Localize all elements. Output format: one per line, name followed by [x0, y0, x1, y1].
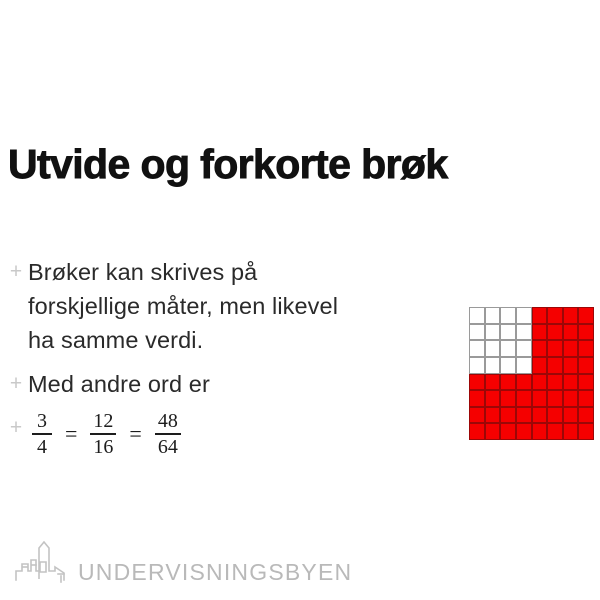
- grid-cell-filled: [500, 423, 516, 440]
- slide-canvas: Utvide og forkorte brøk + Brøker kan skr…: [0, 0, 600, 600]
- grid-cell-filled: [532, 407, 548, 424]
- grid-cell-filled: [532, 357, 548, 374]
- fraction-denominator: 4: [34, 435, 50, 457]
- grid-cell-filled: [532, 374, 548, 391]
- page-title: Utvide og forkorte brøk: [8, 140, 568, 188]
- grid-cell-filled: [547, 307, 563, 324]
- grid-cell-filled: [516, 390, 532, 407]
- grid-cell-filled: [516, 374, 532, 391]
- plus-bullet-icon: +: [4, 367, 28, 401]
- grid-cell-filled: [578, 407, 594, 424]
- grid-cell-empty: [500, 324, 516, 341]
- grid-cell-filled: [547, 423, 563, 440]
- grid-cell-filled: [578, 307, 594, 324]
- grid-cell-filled: [563, 340, 579, 357]
- grid-cell-empty: [516, 357, 532, 374]
- grid-cell-empty: [469, 324, 485, 341]
- grid-cell-filled: [532, 390, 548, 407]
- plus-bullet-icon: +: [4, 411, 28, 445]
- grid-cell-filled: [578, 374, 594, 391]
- fraction-twelve-sixteenths: 12 16: [90, 411, 116, 457]
- grid-cell-empty: [516, 324, 532, 341]
- city-skyline-icon: [14, 534, 72, 586]
- grid-cell-filled: [532, 307, 548, 324]
- equals-sign: =: [129, 423, 141, 445]
- grid-cell-filled: [563, 307, 579, 324]
- grid-cell-filled: [485, 390, 501, 407]
- grid-cell-filled: [469, 423, 485, 440]
- grid-cell-filled: [578, 357, 594, 374]
- fraction-grid-figure: [469, 307, 594, 440]
- grid-cell-filled: [547, 340, 563, 357]
- grid-cell-filled: [578, 423, 594, 440]
- grid-cell-filled: [578, 324, 594, 341]
- footer-logo: UNDERVISNINGSBYEN: [14, 534, 352, 586]
- grid-cell-filled: [547, 324, 563, 341]
- grid-cell-filled: [547, 407, 563, 424]
- grid-cell-empty: [500, 357, 516, 374]
- fraction-denominator: 16: [90, 435, 116, 457]
- grid-cell-filled: [532, 324, 548, 341]
- grid-cell-filled: [516, 423, 532, 440]
- fraction-three-quarters: 3 4: [32, 411, 52, 457]
- grid-cell-empty: [485, 307, 501, 324]
- list-item: + Med andre ord er: [4, 367, 344, 401]
- grid-cell-filled: [563, 324, 579, 341]
- fraction-numerator: 12: [90, 411, 116, 433]
- grid-cell-filled: [563, 390, 579, 407]
- equals-sign: =: [65, 423, 77, 445]
- fraction-numerator: 3: [34, 411, 50, 433]
- list-item: + Brøker kan skrives på forskjellige måt…: [4, 255, 344, 357]
- grid-cell-empty: [500, 340, 516, 357]
- fraction-equation: 3 4 = 12 16 = 48 64: [28, 411, 185, 457]
- grid-cell-filled: [578, 390, 594, 407]
- grid-cell-filled: [469, 407, 485, 424]
- grid-cell-filled: [563, 374, 579, 391]
- grid-cell-filled: [516, 407, 532, 424]
- grid-cell-filled: [500, 407, 516, 424]
- grid-cell-filled: [500, 374, 516, 391]
- grid-cell-filled: [469, 390, 485, 407]
- grid-cell-empty: [485, 340, 501, 357]
- grid-cell-empty: [516, 307, 532, 324]
- grid-cell-empty: [469, 357, 485, 374]
- fraction-numerator: 48: [155, 411, 181, 433]
- grid-cell-filled: [485, 423, 501, 440]
- grid-cell-filled: [485, 374, 501, 391]
- grid-cell-filled: [485, 407, 501, 424]
- grid-cell-filled: [563, 407, 579, 424]
- grid-cell-filled: [547, 374, 563, 391]
- grid-cell-filled: [532, 423, 548, 440]
- list-item-label: Brøker kan skrives på forskjellige måter…: [28, 255, 344, 357]
- grid-cell-filled: [563, 357, 579, 374]
- grid-cell-filled: [469, 374, 485, 391]
- grid-cell-empty: [485, 324, 501, 341]
- grid-cell-filled: [532, 340, 548, 357]
- grid-cell-empty: [516, 340, 532, 357]
- grid-cell-empty: [469, 307, 485, 324]
- list-item-label: Med andre ord er: [28, 367, 344, 401]
- logo-wordmark: UNDERVISNINGSBYEN: [78, 560, 352, 584]
- equation-row: + 3 4 = 12 16 = 48 64: [4, 411, 344, 457]
- grid-cell-empty: [469, 340, 485, 357]
- bullet-list: + Brøker kan skrives på forskjellige måt…: [4, 255, 344, 467]
- grid-cell-empty: [500, 307, 516, 324]
- grid-cell-filled: [563, 423, 579, 440]
- grid-cell-filled: [547, 390, 563, 407]
- fraction-denominator: 64: [155, 435, 181, 457]
- grid-cell-filled: [547, 357, 563, 374]
- plus-bullet-icon: +: [4, 255, 28, 289]
- grid-cell-empty: [485, 357, 501, 374]
- grid-cell-filled: [578, 340, 594, 357]
- grid-cell-filled: [500, 390, 516, 407]
- fraction-fortyeight-sixtyfourths: 48 64: [155, 411, 181, 457]
